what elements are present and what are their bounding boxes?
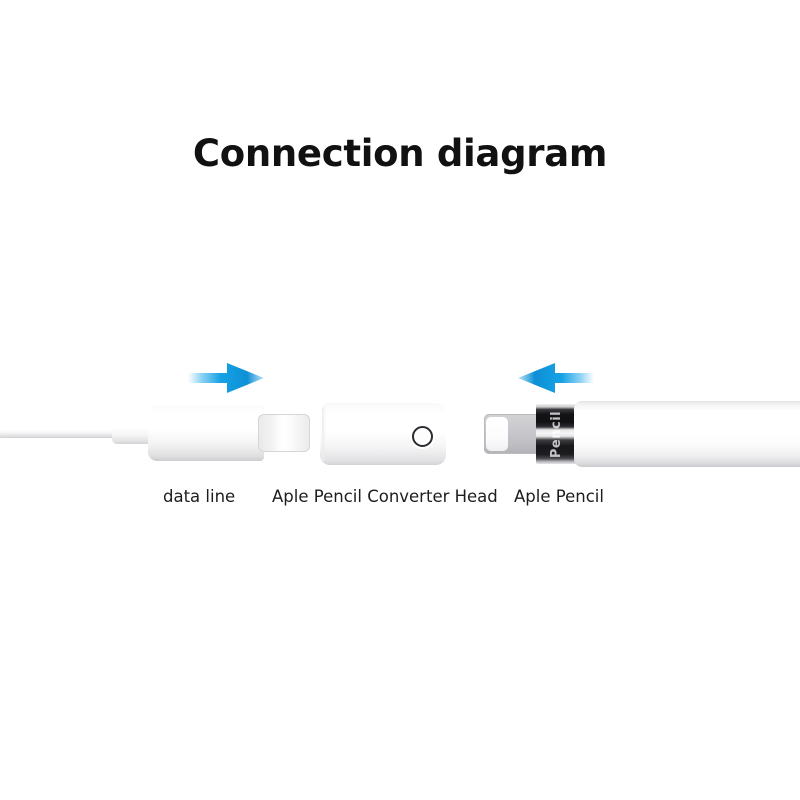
- pencil-band-label: Pencil: [550, 410, 565, 457]
- cable-connector-body: [148, 405, 264, 461]
- page-title: Connection diagram: [0, 132, 800, 175]
- arrow-left-icon: [512, 358, 602, 398]
- pencil-band-text-wrapper: Pencil: [536, 404, 578, 464]
- cable-lightning-tip: [258, 414, 310, 452]
- cable-strain-relief: [112, 421, 152, 444]
- caption-data-line: data line: [163, 487, 235, 506]
- arrow-right-icon: [180, 358, 270, 398]
- connection-diagram-image: Connection diagram: [0, 0, 800, 800]
- converter-indicator-ring-icon: [412, 426, 433, 447]
- converter-head-seam: [322, 407, 326, 461]
- caption-converter-head: Aple Pencil Converter Head: [272, 487, 498, 506]
- cable-cord: [0, 427, 118, 438]
- pencil-black-band: Pencil: [536, 404, 578, 464]
- caption-apple-pencil: Aple Pencil: [514, 487, 604, 506]
- pencil-plug-contact-plate: [486, 417, 508, 451]
- pencil-lightning-plug: [484, 414, 540, 454]
- converter-head-body: [320, 403, 446, 465]
- pencil-barrel: [574, 401, 800, 467]
